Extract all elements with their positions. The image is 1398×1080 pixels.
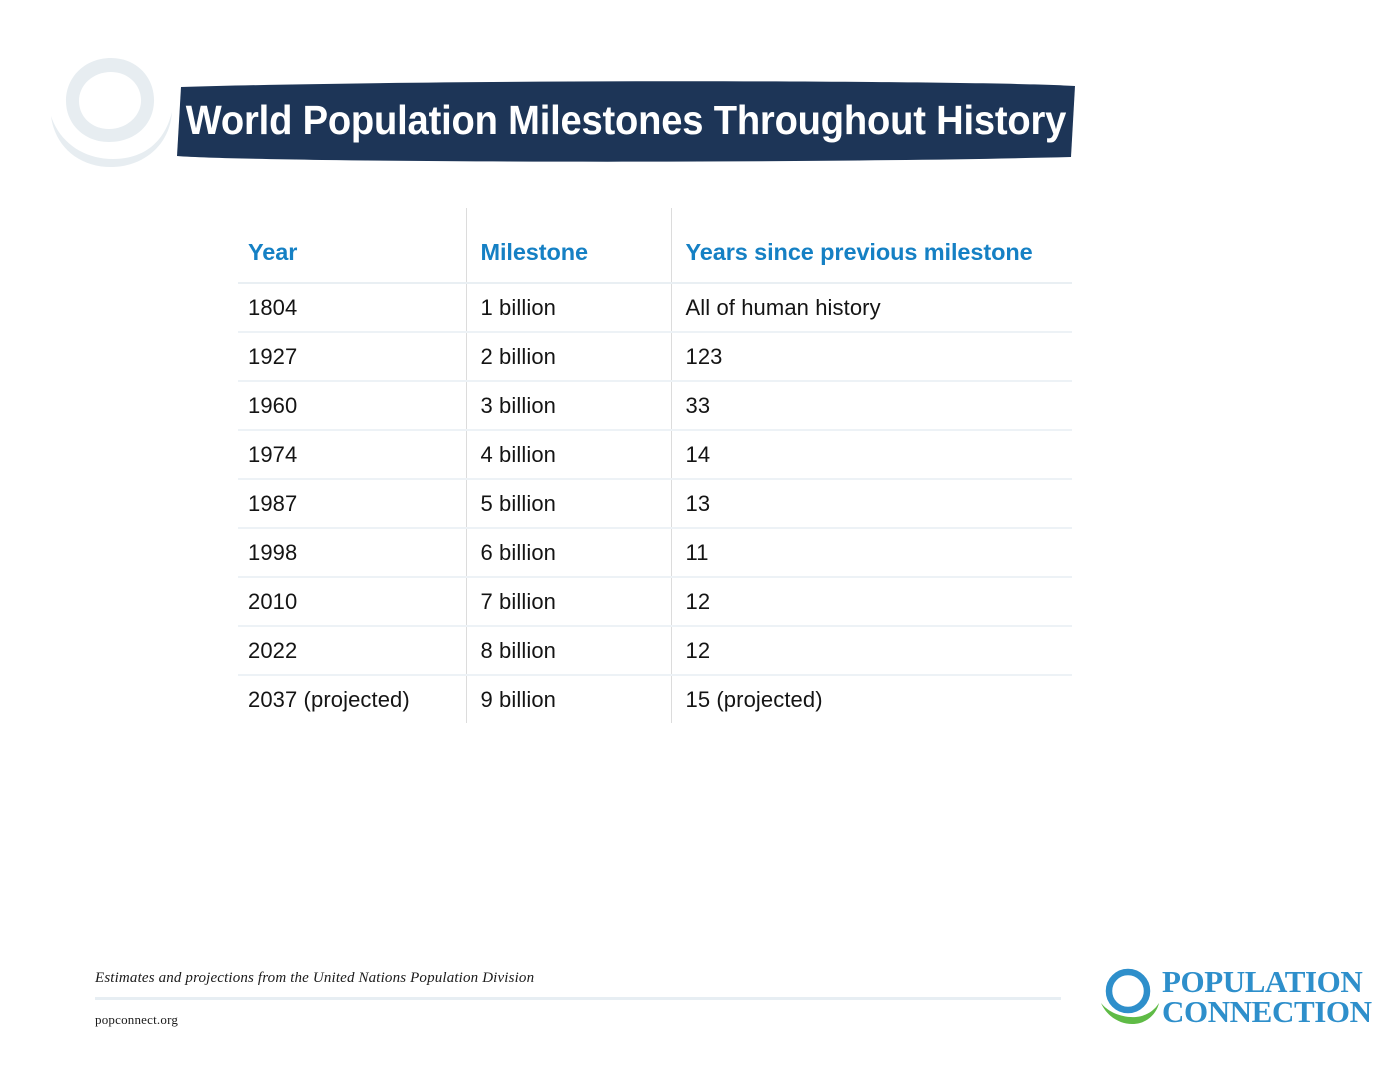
table-row: 1974 4 billion 14 bbox=[238, 430, 1072, 479]
cell-milestone: 9 billion bbox=[466, 675, 671, 723]
column-header-year: Year bbox=[238, 208, 466, 283]
table-row: 1927 2 billion 123 bbox=[238, 332, 1072, 381]
logo-wordmark: POPULATION CONNECTION bbox=[1162, 967, 1372, 1028]
source-note: Estimates and projections from the Unite… bbox=[95, 970, 534, 987]
cell-years-since: 15 (projected) bbox=[671, 675, 1072, 723]
table-row: 1987 5 billion 13 bbox=[238, 479, 1072, 528]
watermark-logo-mark bbox=[33, 48, 173, 168]
cell-year: 2037 (projected) bbox=[238, 675, 466, 723]
cell-milestone: 3 billion bbox=[466, 381, 671, 430]
cell-years-since: 123 bbox=[671, 332, 1072, 381]
milestones-table-wrapper: Year Milestone Years since previous mile… bbox=[238, 208, 1072, 723]
cell-milestone: 4 billion bbox=[466, 430, 671, 479]
footer-divider bbox=[95, 997, 1061, 1000]
population-connection-logo: POPULATION CONNECTION bbox=[1098, 963, 1338, 1033]
cell-milestone: 6 billion bbox=[466, 528, 671, 577]
milestones-table: Year Milestone Years since previous mile… bbox=[238, 208, 1072, 723]
cell-year: 1974 bbox=[238, 430, 466, 479]
table-body: 1804 1 billion All of human history 1927… bbox=[238, 283, 1072, 723]
cell-milestone: 2 billion bbox=[466, 332, 671, 381]
table-header: Year Milestone Years since previous mile… bbox=[238, 208, 1072, 283]
table-row: 2037 (projected) 9 billion 15 (projected… bbox=[238, 675, 1072, 723]
table-header-row: Year Milestone Years since previous mile… bbox=[238, 208, 1072, 283]
cell-milestone: 8 billion bbox=[466, 626, 671, 675]
cell-years-since: 12 bbox=[671, 577, 1072, 626]
ring-swoosh-icon bbox=[1098, 965, 1160, 1027]
cell-year: 1998 bbox=[238, 528, 466, 577]
cell-year: 1987 bbox=[238, 479, 466, 528]
cell-years-since: 33 bbox=[671, 381, 1072, 430]
cell-milestone: 7 billion bbox=[466, 577, 671, 626]
logo-line-1: POPULATION bbox=[1162, 967, 1372, 997]
cell-years-since: All of human history bbox=[671, 283, 1072, 332]
table-row: 1804 1 billion All of human history bbox=[238, 283, 1072, 332]
cell-milestone: 5 billion bbox=[466, 479, 671, 528]
table-row: 1998 6 billion 11 bbox=[238, 528, 1072, 577]
cell-years-since: 11 bbox=[671, 528, 1072, 577]
cell-year: 1927 bbox=[238, 332, 466, 381]
cell-years-since: 14 bbox=[671, 430, 1072, 479]
table-row: 1960 3 billion 33 bbox=[238, 381, 1072, 430]
column-header-milestone: Milestone bbox=[466, 208, 671, 283]
cell-year: 2010 bbox=[238, 577, 466, 626]
cell-years-since: 13 bbox=[671, 479, 1072, 528]
title-banner: World Population Milestones Throughout H… bbox=[172, 80, 1080, 164]
logo-line-2: CONNECTION bbox=[1162, 997, 1372, 1027]
page-title: World Population Milestones Throughout H… bbox=[204, 80, 1048, 164]
footer-url: popconnect.org bbox=[95, 1012, 178, 1028]
column-header-years-since: Years since previous milestone bbox=[671, 208, 1072, 283]
table-row: 2010 7 billion 12 bbox=[238, 577, 1072, 626]
cell-milestone: 1 billion bbox=[466, 283, 671, 332]
table-row: 2022 8 billion 12 bbox=[238, 626, 1072, 675]
cell-year: 1960 bbox=[238, 381, 466, 430]
cell-year: 2022 bbox=[238, 626, 466, 675]
cell-years-since: 12 bbox=[671, 626, 1072, 675]
cell-year: 1804 bbox=[238, 283, 466, 332]
